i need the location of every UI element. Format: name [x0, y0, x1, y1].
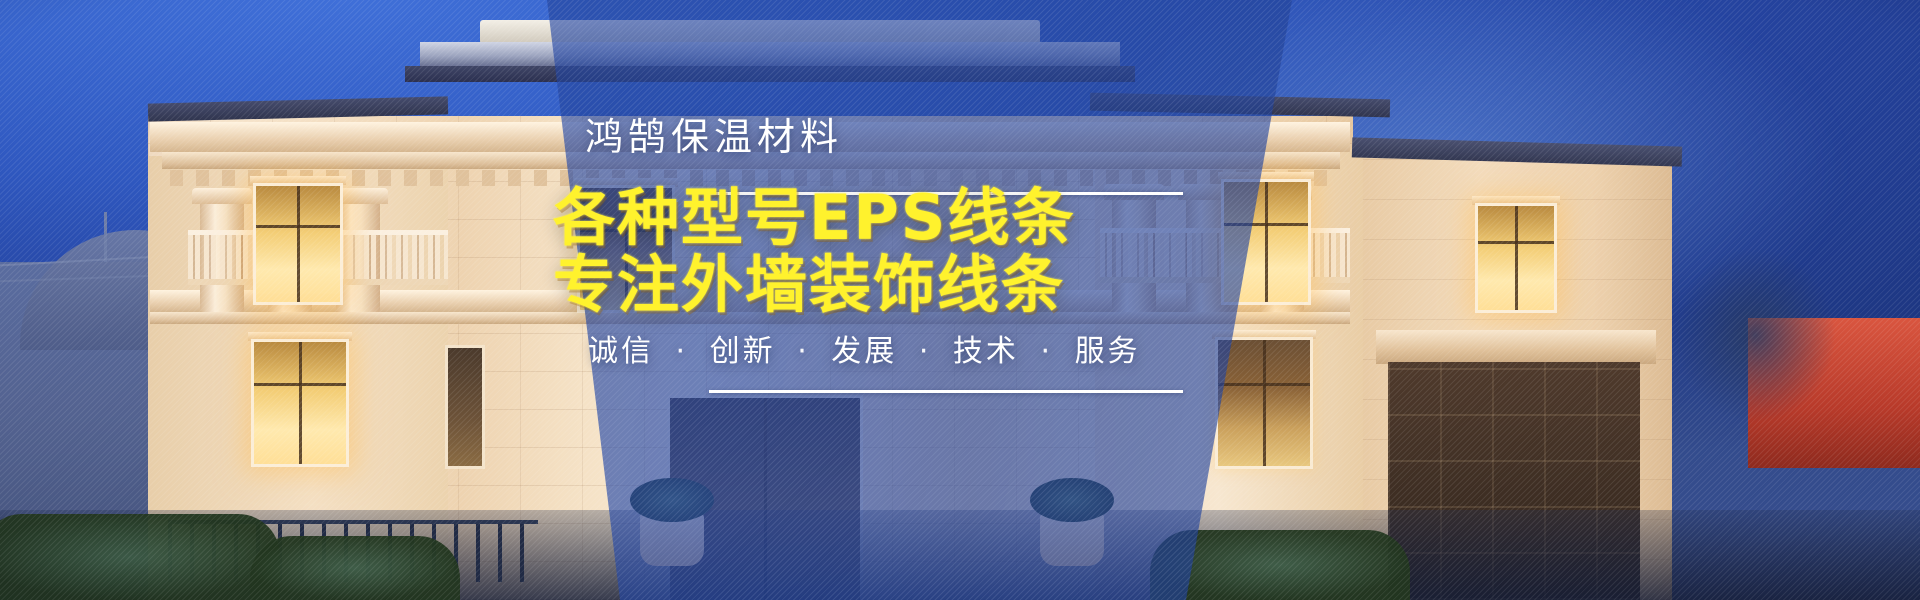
window-mullion [1265, 182, 1268, 302]
window-head [250, 176, 346, 185]
column-capital [192, 188, 252, 204]
window-mullion [299, 342, 302, 464]
window-mullion [297, 186, 300, 302]
window-head [248, 332, 352, 341]
tree-silhouette [1640, 210, 1870, 460]
window-transom [254, 383, 346, 386]
hedge [250, 536, 460, 600]
window-head [1472, 196, 1560, 205]
window [1478, 206, 1554, 310]
window-narrow [448, 348, 482, 466]
window [254, 342, 346, 464]
hedge [0, 514, 280, 600]
window-mullion [1515, 206, 1518, 310]
window-mullion [1263, 340, 1266, 466]
hero-banner: 鸿鹄保温材料 各种型号EPS线条 专注外墙装饰线条 诚信 · 创新 · 发展 ·… [0, 0, 1920, 600]
window [256, 186, 340, 302]
garage-lintel [1376, 330, 1656, 364]
window-transom [1218, 383, 1310, 386]
window [1218, 340, 1310, 466]
window-transom [256, 225, 340, 228]
window-transom [1478, 241, 1554, 244]
